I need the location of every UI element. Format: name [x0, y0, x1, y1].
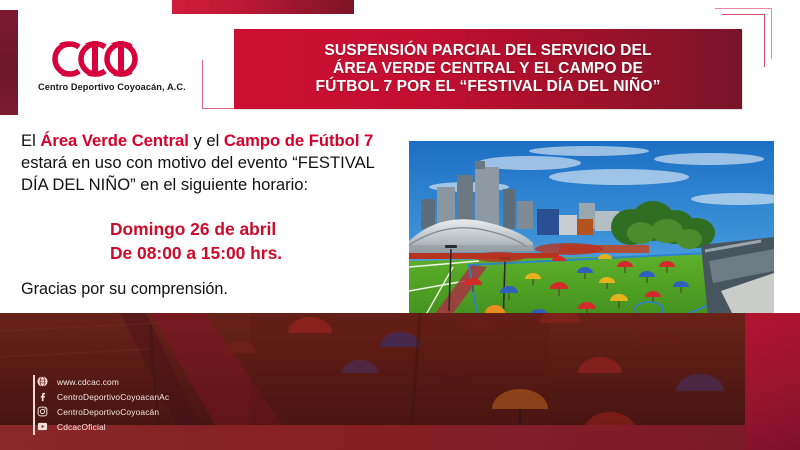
notice-highlight-campo-futbol: Campo de Fútbol 7: [224, 131, 373, 150]
website-icon: [35, 376, 50, 388]
header-banner: SUSPENSIÓN PARCIAL DEL SERVICIO DEL ÁREA…: [234, 29, 742, 109]
banner-title-line-3: FÚTBOL 7 POR EL “FESTIVAL DÍA DEL NIÑO”: [316, 78, 661, 96]
contact-item-website[interactable]: www.cdcac.com: [50, 375, 350, 389]
brand-logo: Centro Deportivo Coyoacán, A.C.: [38, 38, 216, 92]
brand-logo-caption: Centro Deportivo Coyoacán, A.C.: [38, 82, 216, 92]
notice-intro-middle: y el: [189, 131, 224, 150]
contact-website-label: www.cdcac.com: [57, 377, 119, 387]
cdc-logo-icon: [44, 38, 162, 78]
footer-right-accent-block: [745, 313, 800, 450]
notice-highlight-area-verde: Área Verde Central: [40, 131, 189, 150]
contact-list: www.cdcac.com CentroDeportivoCoyoacanAc …: [33, 375, 350, 435]
venue-photo-illustration: [409, 141, 774, 327]
notice-intro-rest: estará en uso con motivo del evento “FES…: [21, 153, 374, 194]
contact-youtube-label: CdcacOficial: [57, 422, 106, 432]
contact-item-facebook[interactable]: CentroDeportivoCoyoacanAc: [50, 390, 350, 404]
banner-title: SUSPENSIÓN PARCIAL DEL SERVICIO DEL ÁREA…: [308, 42, 669, 96]
notice-intro-prefix: El: [21, 131, 40, 150]
notice-body: El Área Verde Central y el Campo de Fútb…: [21, 130, 401, 196]
schedule-date: Domingo 26 de abril: [110, 217, 410, 241]
decor-top-gradient-bar: [172, 0, 354, 14]
venue-photo: [409, 141, 774, 327]
decor-left-vertical-bar: [0, 10, 18, 115]
schedule-block: Domingo 26 de abril De 08:00 a 15:00 hrs…: [110, 217, 410, 265]
instagram-icon: [35, 406, 50, 418]
banner-title-line-2: ÁREA VERDE CENTRAL Y EL CAMPO DE: [316, 60, 661, 78]
banner-title-line-1: SUSPENSIÓN PARCIAL DEL SERVICIO DEL: [316, 42, 661, 60]
contact-item-youtube[interactable]: CdcacOficial: [50, 420, 350, 434]
youtube-icon: [35, 421, 50, 433]
poster-canvas: Centro Deportivo Coyoacán, A.C. SUSPENSI…: [0, 0, 800, 450]
thanks-text: Gracias por su comprensión.: [21, 280, 401, 299]
schedule-time: De 08:00 a 15:00 hrs.: [110, 241, 410, 265]
facebook-icon: [35, 391, 50, 403]
contact-item-instagram[interactable]: CentroDeportivoCoyoacán: [50, 405, 350, 419]
contact-instagram-label: CentroDeportivoCoyoacán: [57, 407, 159, 417]
contact-facebook-label: CentroDeportivoCoyoacanAc: [57, 392, 169, 402]
